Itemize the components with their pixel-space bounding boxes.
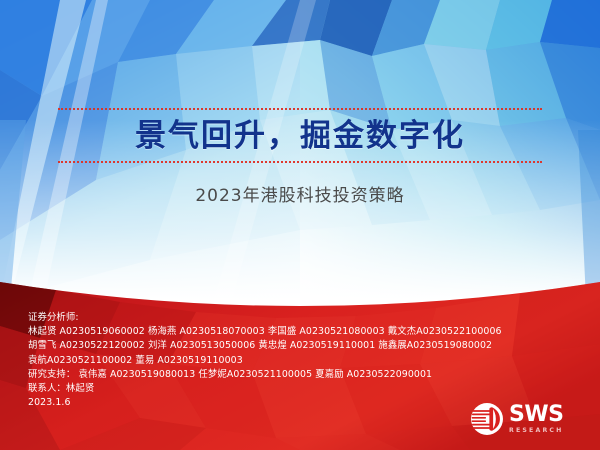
sws-name: SWS bbox=[509, 404, 564, 426]
analyst-heading: 证券分析师: bbox=[28, 311, 548, 325]
analyst-line: 胡雪飞 A0230522120002 刘洋 A0230513050006 黄忠煌… bbox=[28, 339, 548, 353]
analyst-line: 袁航A0230521100002 董易 A0230519110003 bbox=[28, 354, 548, 368]
sws-circle-mark-icon bbox=[470, 402, 504, 436]
page-title: 景气回升，掘金数字化 bbox=[0, 110, 600, 161]
page-subtitle: 2023年港股科技投资策略 bbox=[0, 181, 600, 206]
research-support-line: 研究支持： 袁伟嘉 A0230519080013 任梦妮A02305211000… bbox=[28, 368, 548, 382]
title-rule-top bbox=[58, 108, 542, 110]
title-block: 景气回升，掘金数字化 2023年港股科技投资策略 bbox=[0, 108, 600, 206]
analyst-credits: 证券分析师: 林起贤 A0230519060002 杨海燕 A023051807… bbox=[28, 311, 548, 410]
presentation-cover-slide: 景气回升，掘金数字化 2023年港股科技投资策略 bbox=[0, 0, 600, 450]
analyst-line: 林起贤 A0230519060002 杨海燕 A0230518070003 李国… bbox=[28, 325, 548, 339]
contact-line: 联系人：林起贤 bbox=[28, 382, 548, 396]
sws-logo: SWS RESEARCH bbox=[470, 399, 582, 439]
title-rule-bottom bbox=[58, 161, 542, 163]
sws-tagline: RESEARCH bbox=[509, 428, 564, 434]
sws-wordmark: SWS RESEARCH bbox=[509, 404, 564, 434]
